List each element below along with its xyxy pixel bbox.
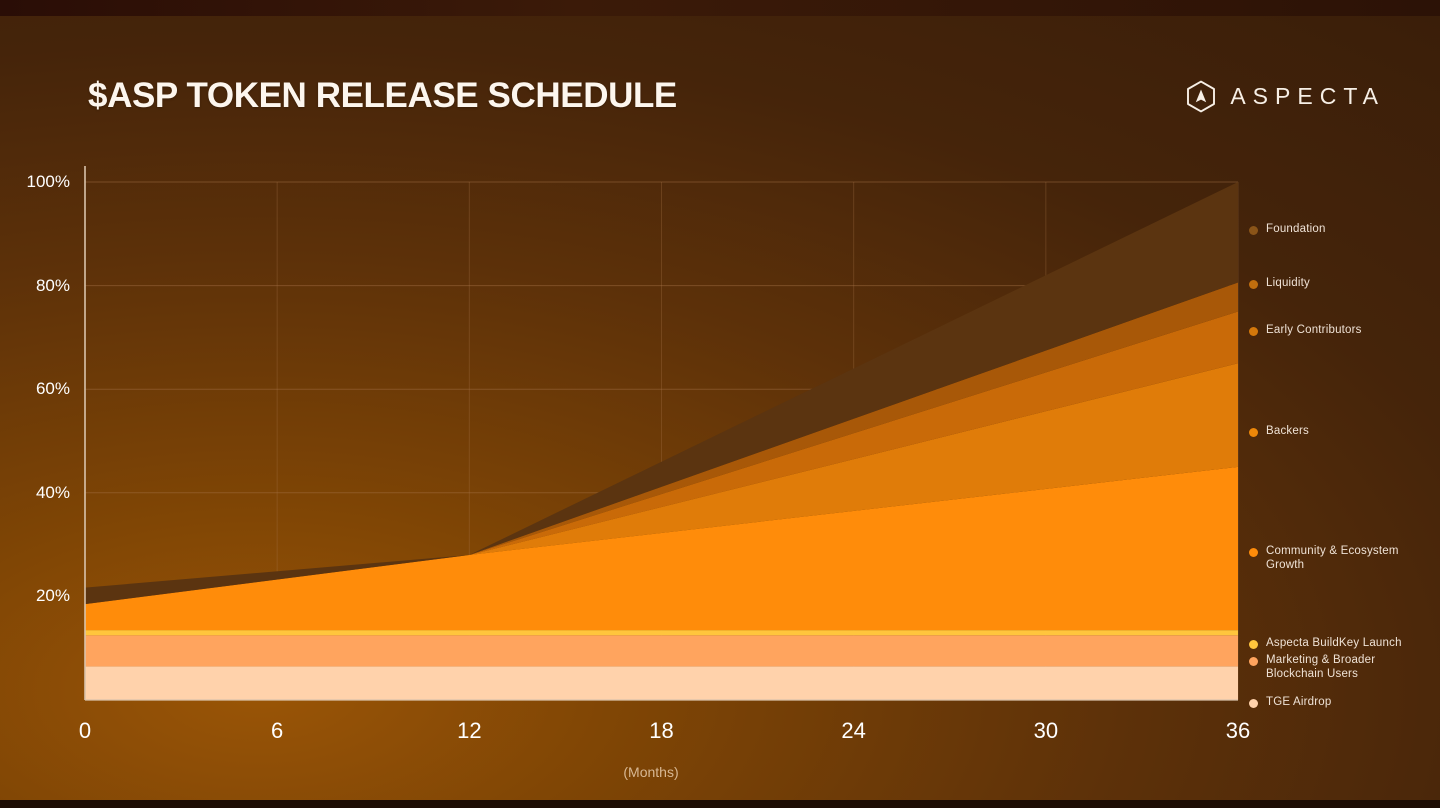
x-axis-tick-label: 12 — [457, 718, 481, 744]
chart-panel: $ASP TOKEN RELEASE SCHEDULE ASPECTA — [0, 16, 1440, 800]
legend-item[interactable]: Aspecta BuildKey Launch — [1249, 637, 1435, 651]
top-border-strip — [0, 0, 1440, 16]
legend-item[interactable]: TGE Airdrop — [1249, 696, 1435, 710]
legend-item-label: TGE Airdrop — [1266, 696, 1331, 710]
legend-item[interactable]: Marketing & Broader Blockchain Users — [1249, 654, 1435, 681]
chart-legend: FoundationLiquidityEarly ContributorsBac… — [1249, 16, 1439, 800]
legend-item[interactable]: Early Contributors — [1249, 324, 1435, 338]
x-axis-tick-label: 24 — [841, 718, 865, 744]
x-axis-tick-label: 30 — [1034, 718, 1058, 744]
legend-item[interactable]: Foundation — [1249, 223, 1435, 237]
legend-item-label: Marketing & Broader Blockchain Users — [1266, 654, 1435, 681]
legend-color-swatch-icon — [1249, 280, 1258, 289]
bottom-border-strip — [0, 800, 1440, 808]
legend-item[interactable]: Liquidity — [1249, 277, 1435, 291]
legend-color-swatch-icon — [1249, 226, 1258, 235]
x-axis-title: (Months) — [623, 764, 678, 780]
legend-item-label: Liquidity — [1266, 277, 1310, 291]
x-axis-tick-label: 18 — [649, 718, 673, 744]
legend-color-swatch-icon — [1249, 699, 1258, 708]
legend-item-label: Backers — [1266, 425, 1309, 439]
legend-item-label: Aspecta BuildKey Launch — [1266, 637, 1402, 651]
x-axis-tick-label: 6 — [271, 718, 283, 744]
legend-color-swatch-icon — [1249, 640, 1258, 649]
x-axis-tick-label: 0 — [79, 718, 91, 744]
legend-color-swatch-icon — [1249, 657, 1258, 666]
legend-color-swatch-icon — [1249, 327, 1258, 336]
legend-item[interactable]: Backers — [1249, 425, 1435, 439]
legend-item-label: Early Contributors — [1266, 324, 1362, 338]
x-axis-tick-label: 36 — [1226, 718, 1250, 744]
screenshot-root: $ASP TOKEN RELEASE SCHEDULE ASPECTA — [0, 0, 1440, 808]
legend-item-label: Foundation — [1266, 223, 1326, 237]
legend-item[interactable]: Community & Ecosystem Growth — [1249, 545, 1435, 572]
legend-item-label: Community & Ecosystem Growth — [1266, 545, 1435, 572]
chart-area: 20%40%60%80%100% 061218243036 (Months) F… — [0, 16, 1440, 800]
legend-color-swatch-icon — [1249, 548, 1258, 557]
legend-color-swatch-icon — [1249, 428, 1258, 437]
x-axis-labels: 061218243036 — [0, 16, 1440, 800]
